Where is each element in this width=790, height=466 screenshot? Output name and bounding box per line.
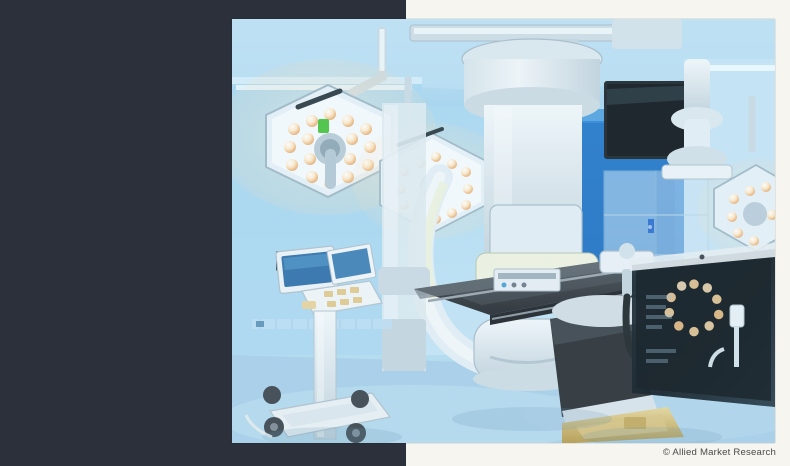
infographic-banner: Global Hybrid Operating Room Market OPPO… (0, 0, 790, 466)
copyright-credit: © Allied Market Research (663, 447, 776, 458)
hybrid-operating-room-photo (232, 19, 775, 443)
